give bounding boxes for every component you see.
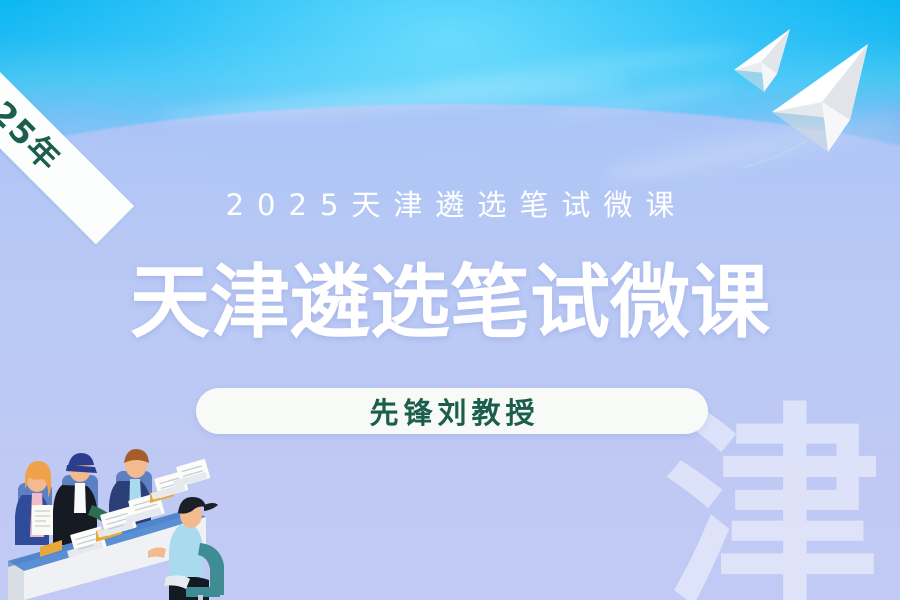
paper-plane-small-icon bbox=[734, 29, 790, 92]
poster-canvas: 2025年 津 bbox=[0, 0, 900, 600]
presenter-pill[interactable]: 先锋刘教授 bbox=[196, 388, 708, 434]
paper-plane-large-icon bbox=[772, 44, 868, 152]
document-stack bbox=[173, 459, 210, 488]
paper-planes-group bbox=[720, 0, 900, 175]
held-document bbox=[32, 505, 54, 535]
presenter-name-label: 先锋刘教授 bbox=[364, 390, 539, 432]
plane-trail bbox=[742, 140, 808, 168]
poster-subtitle: 2025天津遴选笔试微课 bbox=[0, 182, 900, 224]
poster-main-title: 天津遴选笔试微课 bbox=[0, 263, 900, 343]
